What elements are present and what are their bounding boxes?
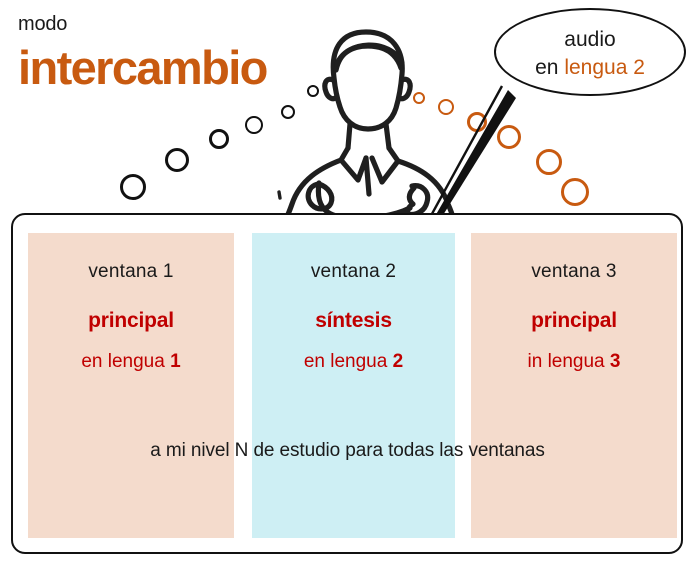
windows-panel: ventana 1 principal en lengua 1 ventana … bbox=[11, 213, 683, 554]
bubble-circle-orange bbox=[561, 178, 589, 206]
page-title: intercambio bbox=[18, 44, 267, 91]
speech-bubble: audio en lengua 2 bbox=[494, 8, 686, 96]
window-1-language-prefix: en lengua bbox=[81, 351, 170, 372]
bubble-circle-black bbox=[245, 116, 263, 134]
window-2-title: ventana 2 bbox=[252, 261, 455, 283]
window-column-1[interactable]: ventana 1 principal en lengua 1 bbox=[28, 233, 234, 538]
bubble-circle-black bbox=[209, 129, 229, 149]
window-column-3[interactable]: ventana 3 principal in lengua 3 bbox=[471, 233, 677, 538]
bubble-circle-black bbox=[120, 174, 146, 200]
speech-bubble-line-2: en lengua 2 bbox=[494, 54, 686, 82]
bubble-circle-black bbox=[165, 148, 189, 172]
window-3-role: principal bbox=[471, 309, 677, 333]
page-kicker: modo bbox=[18, 14, 67, 34]
window-1-role: principal bbox=[28, 309, 234, 333]
speech-bubble-text: audio en lengua 2 bbox=[494, 26, 686, 82]
window-3-language-number: 3 bbox=[610, 351, 621, 372]
window-2-language: en lengua 2 bbox=[252, 351, 455, 373]
window-2-role: síntesis bbox=[252, 309, 455, 333]
window-2-language-number: 2 bbox=[393, 351, 404, 372]
speech-bubble-line-1: audio bbox=[494, 26, 686, 54]
panel-footer-note: a mi nivel N de estudio para todas las v… bbox=[0, 440, 695, 462]
window-1-language: en lengua 1 bbox=[28, 351, 234, 373]
speech-bubble-line-2-prefix: en bbox=[535, 56, 564, 79]
window-3-title: ventana 3 bbox=[471, 261, 677, 283]
window-1-language-number: 1 bbox=[170, 351, 181, 372]
window-1-title: ventana 1 bbox=[28, 261, 234, 283]
window-3-language-prefix: in lengua bbox=[528, 351, 610, 372]
bubble-circle-orange bbox=[536, 149, 562, 175]
window-3-language: in lengua 3 bbox=[471, 351, 677, 373]
speech-bubble-line-2-highlight: lengua 2 bbox=[564, 56, 645, 79]
window-column-2[interactable]: ventana 2 síntesis en lengua 2 bbox=[252, 233, 455, 538]
window-2-language-prefix: en lengua bbox=[304, 351, 393, 372]
